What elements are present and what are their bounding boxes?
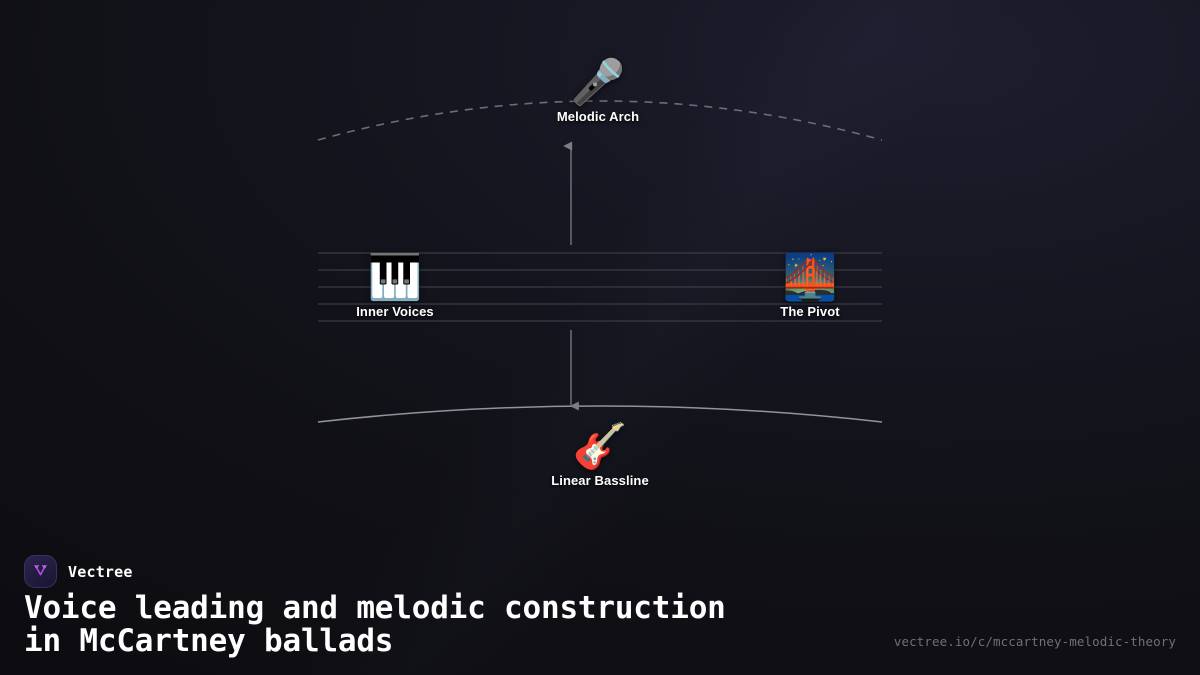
- diagram-node-melodic-arch[interactable]: 🎤 Melodic Arch: [498, 58, 698, 126]
- vectree-tree-logo-icon: [24, 555, 57, 588]
- diagram-node-label: Melodic Arch: [557, 109, 639, 124]
- source-url: vectree.io/c/mccartney-melodic-theory: [894, 634, 1176, 649]
- brand-name: Vectree: [68, 563, 133, 581]
- diagram-node-inner-voices[interactable]: 🎹 Inner Voices: [295, 253, 495, 321]
- diagram-node-label: Linear Bassline: [551, 473, 649, 488]
- diagram-node-linear-bassline[interactable]: 🎸 Linear Bassline: [500, 422, 700, 490]
- page-title: Voice leading and melodic construction i…: [24, 592, 904, 658]
- diagram-node-label: The Pivot: [780, 304, 839, 319]
- slide-canvas: 🎤 Melodic Arch 🎹 Inner Voices 🌉 The Pivo…: [0, 0, 1200, 675]
- melodic-construction-diagram: 🎤 Melodic Arch 🎹 Inner Voices 🌉 The Pivo…: [0, 0, 1200, 520]
- musical-keyboard-emoji: 🎹: [295, 253, 495, 303]
- bridge-at-night-emoji: 🌉: [710, 253, 910, 303]
- diagram-node-the-pivot[interactable]: 🌉 The Pivot: [710, 253, 910, 321]
- microphone-emoji: 🎤: [498, 58, 698, 108]
- bassline-curve: [318, 406, 882, 422]
- footer: Vectree Voice leading and melodic constr…: [0, 530, 1200, 675]
- diagram-node-label: Inner Voices: [356, 304, 434, 319]
- vectree-glyph: [31, 562, 50, 581]
- guitar-emoji: 🎸: [500, 422, 700, 472]
- brand[interactable]: Vectree: [24, 555, 133, 588]
